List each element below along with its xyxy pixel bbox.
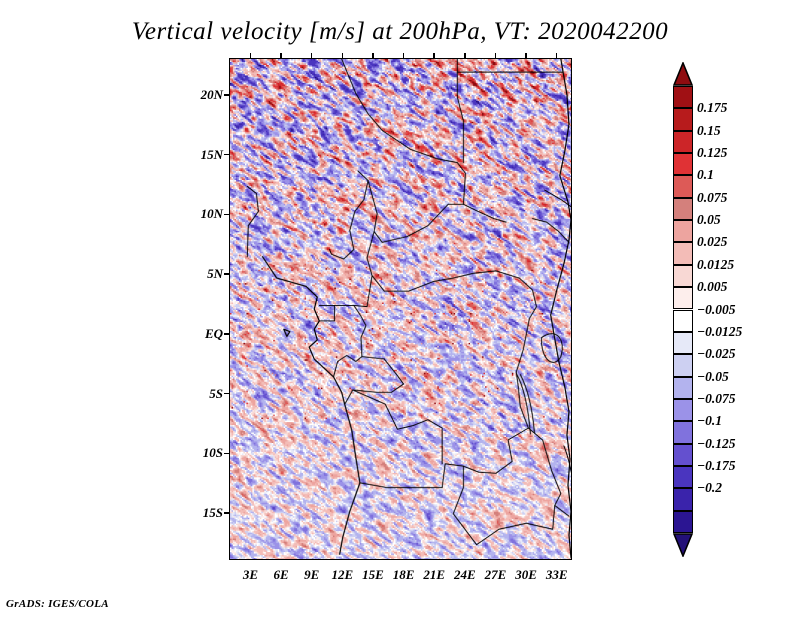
x-axis-tick-label: 18E (393, 567, 415, 583)
vertical-velocity-heatmap (230, 59, 571, 559)
colorbar-under-arrow (673, 533, 693, 557)
colorbar-tick-label: −0.05 (697, 369, 729, 385)
x-axis-tick-mark (525, 53, 527, 59)
colorbar-tick-label: 0.1 (697, 167, 714, 183)
colorbar-swatch (673, 488, 693, 510)
x-axis-tick-label: 3E (243, 567, 258, 583)
colorbar-swatch (673, 377, 693, 399)
y-axis-tick-mark (224, 273, 230, 275)
x-axis-tick-label: 24E (454, 567, 476, 583)
colorbar-swatch (673, 421, 693, 443)
colorbar-tick-label: −0.005 (697, 302, 736, 318)
x-axis-tick-mark (464, 53, 466, 59)
y-axis-tick-mark (224, 94, 230, 96)
colorbar-tick-label: −0.0125 (697, 324, 742, 340)
y-axis-tick-mark (224, 333, 230, 335)
colorbar-tick-label: −0.075 (697, 391, 736, 407)
y-axis-tick-label: 10S (203, 445, 223, 461)
colorbar-over-arrow (673, 62, 693, 86)
x-axis-tick-mark (250, 53, 252, 59)
colorbar-swatch (673, 175, 693, 197)
colorbar-swatch (673, 444, 693, 466)
x-axis-tick-mark (433, 53, 435, 59)
x-axis-tick-label: 21E (423, 567, 445, 583)
colorbar-tick-label: 0.175 (697, 100, 727, 116)
x-axis-tick-label: 30E (515, 567, 537, 583)
y-axis-tick-mark (224, 512, 230, 514)
colorbar-swatch (673, 131, 693, 153)
y-axis-tick-label: EQ (205, 326, 223, 342)
x-axis-tick-label: 15E (362, 567, 384, 583)
colorbar-swatch (673, 511, 693, 533)
colorbar-tick-label: 0.025 (697, 234, 727, 250)
y-axis-tick-mark (224, 393, 230, 395)
y-axis-tick-label: 5N (207, 266, 223, 282)
x-axis-tick-mark (311, 53, 313, 59)
colorbar-tick-label: 0.15 (697, 123, 721, 139)
x-axis-tick-label: 33E (546, 567, 568, 583)
colorbar-swatch (673, 466, 693, 488)
colorbar-tick-label: 0.05 (697, 212, 721, 228)
y-axis-tick-mark (224, 214, 230, 216)
colorbar-swatch (673, 310, 693, 332)
colorbar-swatch (673, 220, 693, 242)
colorbar-tick-label: −0.025 (697, 346, 736, 362)
x-axis-tick-mark (495, 53, 497, 59)
y-axis-tick-mark (224, 154, 230, 156)
colorbar-swatch (673, 86, 693, 108)
x-axis-tick-mark (280, 53, 282, 59)
x-axis-tick-mark (403, 53, 405, 59)
page-title: Vertical velocity [m/s] at 200hPa, VT: 2… (0, 18, 800, 46)
colorbar: 0.1750.150.1250.10.0750.050.0250.01250.0… (673, 62, 693, 557)
colorbar-swatch (673, 153, 693, 175)
y-axis-tick-label: 15S (203, 505, 223, 521)
y-axis-tick-label: 10N (201, 206, 223, 222)
colorbar-swatch (673, 287, 693, 309)
y-axis-tick-mark (224, 453, 230, 455)
colorbar-swatch (673, 108, 693, 130)
x-axis-tick-label: 6E (273, 567, 288, 583)
map-plot-panel: 20N15N10N5NEQ5S10S15S3E6E9E12E15E18E21E2… (229, 58, 572, 560)
x-axis-tick-label: 9E (304, 567, 319, 583)
colorbar-tick-label: 0.125 (697, 145, 727, 161)
colorbar-swatch (673, 399, 693, 421)
colorbar-tick-label: −0.175 (697, 458, 736, 474)
colorbar-swatch (673, 354, 693, 376)
colorbar-tick-label: 0.005 (697, 279, 727, 295)
colorbar-tick-label: 0.075 (697, 190, 727, 206)
credit-label: GrADS: IGES/COLA (6, 598, 109, 610)
colorbar-swatch (673, 242, 693, 264)
colorbar-tick-label: −0.125 (697, 436, 736, 452)
colorbar-tick-label: 0.0125 (697, 257, 734, 273)
x-axis-tick-label: 12E (331, 567, 353, 583)
colorbar-tick-label: −0.2 (697, 480, 722, 496)
y-axis-tick-label: 15N (201, 147, 223, 163)
x-axis-tick-mark (342, 53, 344, 59)
y-axis-tick-label: 5S (209, 386, 223, 402)
x-axis-tick-mark (556, 53, 558, 59)
x-axis-tick-label: 27E (485, 567, 507, 583)
colorbar-tick-label: −0.1 (697, 413, 722, 429)
x-axis-tick-mark (372, 53, 374, 59)
colorbar-swatch (673, 198, 693, 220)
y-axis-tick-label: 20N (201, 87, 223, 103)
colorbar-swatch (673, 332, 693, 354)
colorbar-swatch (673, 265, 693, 287)
